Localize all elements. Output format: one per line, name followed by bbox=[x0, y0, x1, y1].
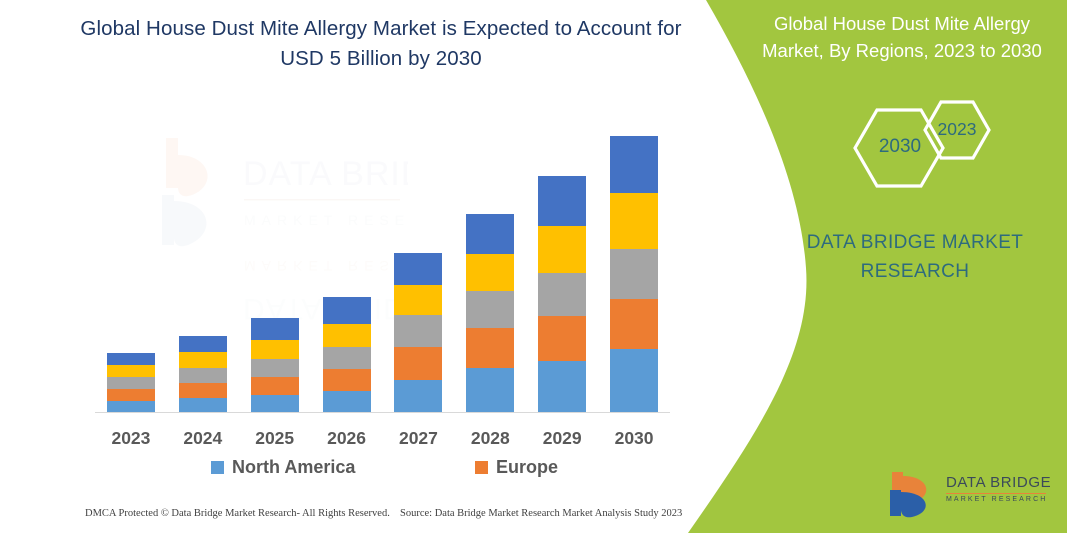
x-axis-label: 2027 bbox=[382, 428, 454, 449]
bar-chart-plot bbox=[95, 120, 670, 413]
bar-segment bbox=[251, 395, 299, 413]
bar-segment bbox=[323, 369, 371, 391]
bar-segment bbox=[394, 253, 442, 284]
x-axis-label: 2030 bbox=[598, 428, 670, 449]
logo-divider bbox=[946, 493, 1046, 494]
x-axis-label: 2029 bbox=[526, 428, 598, 449]
brand-name: DATA BRIDGE MARKET RESEARCH bbox=[800, 228, 1030, 286]
bar-segment bbox=[323, 391, 371, 413]
bar-segment bbox=[466, 328, 514, 368]
bar-segment bbox=[323, 297, 371, 324]
legend-swatch bbox=[475, 461, 488, 474]
bar-group bbox=[538, 176, 586, 413]
bar-segment bbox=[538, 316, 586, 361]
x-axis-label: 2023 bbox=[95, 428, 167, 449]
legend-item[interactable]: Europe bbox=[475, 457, 558, 478]
bar-segment bbox=[610, 299, 658, 349]
legend-label: North America bbox=[232, 457, 355, 478]
logo: DATA BRIDGE MARKET RESEARCH bbox=[888, 470, 1048, 520]
bar-group bbox=[179, 336, 227, 413]
bar-group bbox=[251, 318, 299, 413]
x-axis-label: 2028 bbox=[454, 428, 526, 449]
bar-group bbox=[394, 253, 442, 413]
bar-segment bbox=[538, 176, 586, 226]
x-axis-line bbox=[95, 412, 670, 413]
panel-title: Global House Dust Mite Allergy Market, B… bbox=[756, 10, 1048, 64]
bar-group bbox=[466, 214, 514, 413]
infographic-canvas: Global House Dust Mite Allergy Market is… bbox=[0, 0, 1067, 533]
x-axis-label: 2025 bbox=[239, 428, 311, 449]
bar-segment bbox=[610, 249, 658, 298]
bar-group bbox=[323, 297, 371, 413]
legend-item[interactable]: North America bbox=[211, 457, 355, 478]
hexagon-2023-label: 2023 bbox=[933, 119, 981, 140]
footer: DMCA Protected © Data Bridge Market Rese… bbox=[0, 508, 704, 530]
bar-segment bbox=[466, 214, 514, 254]
legend-swatch bbox=[211, 461, 224, 474]
bar-segment bbox=[394, 347, 442, 380]
logo-title: DATA BRIDGE bbox=[946, 474, 1050, 491]
bar-segment bbox=[466, 254, 514, 290]
bar-segment bbox=[179, 398, 227, 413]
bar-segment bbox=[323, 324, 371, 347]
bar-group bbox=[107, 353, 155, 413]
bar-segment bbox=[179, 368, 227, 383]
bar-segment bbox=[179, 383, 227, 398]
bar-segment bbox=[251, 359, 299, 377]
bar-group bbox=[610, 136, 658, 413]
legend-label: Europe bbox=[496, 457, 558, 478]
bar-segment bbox=[538, 273, 586, 316]
bar-segment bbox=[466, 368, 514, 413]
bar-segment bbox=[179, 336, 227, 352]
hexagon-2030-label: 2030 bbox=[868, 136, 932, 158]
bar-segment bbox=[251, 377, 299, 395]
footer-copyright: DMCA Protected © Data Bridge Market Rese… bbox=[85, 508, 390, 519]
x-axis-label: 2026 bbox=[311, 428, 383, 449]
footer-source: Source: Data Bridge Market Research Mark… bbox=[400, 508, 682, 519]
bar-segment bbox=[107, 365, 155, 377]
bar-segment bbox=[610, 193, 658, 249]
bar-segment bbox=[251, 318, 299, 340]
bar-segment bbox=[394, 380, 442, 413]
logo-subtitle: MARKET RESEARCH bbox=[946, 496, 1050, 503]
bar-segment bbox=[179, 352, 227, 368]
bar-segment bbox=[251, 340, 299, 359]
bar-segment bbox=[610, 349, 658, 413]
bar-segment bbox=[538, 226, 586, 272]
bar-segment bbox=[323, 347, 371, 369]
chart-legend: North AmericaEurope bbox=[95, 455, 670, 483]
logo-mark bbox=[888, 470, 942, 518]
bar-segment bbox=[107, 377, 155, 389]
x-axis-label: 2024 bbox=[167, 428, 239, 449]
bar-segment bbox=[610, 136, 658, 193]
bar-segment bbox=[538, 361, 586, 413]
hexagon-group: 2030 2023 bbox=[820, 88, 1000, 208]
bar-segment bbox=[394, 285, 442, 315]
x-axis-labels: 20232024202520262027202820292030 bbox=[95, 428, 670, 454]
bar-segment bbox=[394, 315, 442, 347]
page-title: Global House Dust Mite Allergy Market is… bbox=[58, 14, 704, 74]
bar-segment bbox=[466, 291, 514, 328]
bar-segment bbox=[107, 389, 155, 401]
bar-segment bbox=[107, 353, 155, 365]
